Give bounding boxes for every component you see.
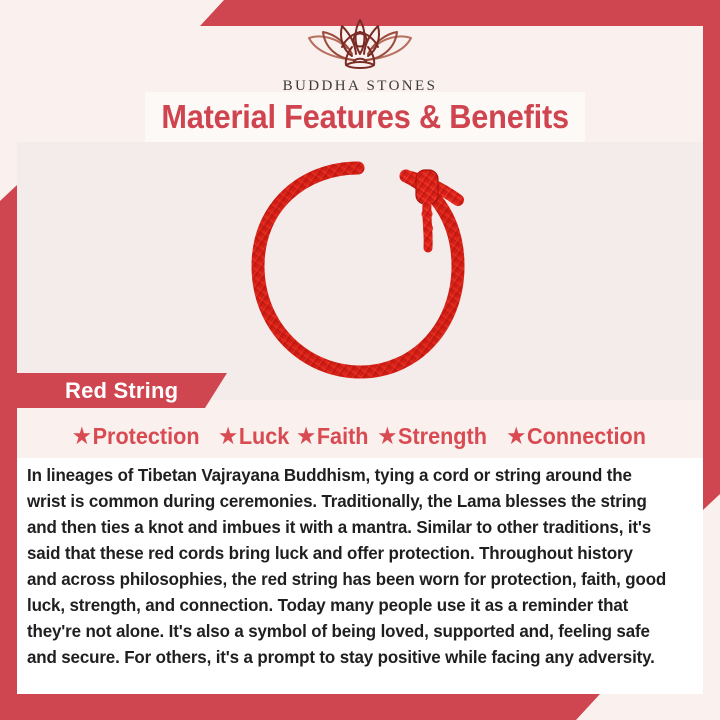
decorative-band-bottom (0, 694, 600, 720)
decorative-band-left (0, 185, 17, 705)
star-icon: ★ (73, 426, 91, 447)
product-photo-panel (17, 142, 703, 400)
star-icon: ★ (298, 426, 316, 447)
product-name-ribbon: Red String (17, 373, 227, 408)
star-icon: ★ (219, 426, 237, 447)
keyword-label: Protection (93, 423, 200, 450)
keyword-label: Luck (239, 423, 289, 450)
product-name: Red String (17, 378, 178, 404)
page-title-strip: Material Features & Benefits (145, 92, 585, 142)
keyword-strength: ★ Strength (379, 423, 487, 450)
bracelet-knot (416, 170, 438, 204)
page-title: Material Features & Benefits (161, 98, 569, 136)
keyword-connection: ★ Connection (508, 423, 646, 450)
red-string-bracelet-image (230, 156, 490, 386)
product-infographic: BUDDHA STONES Material Features & Benefi… (0, 0, 720, 720)
keyword-faith: ★ Faith (298, 423, 369, 450)
description-text: In lineages of Tibetan Vajrayana Buddhis… (27, 462, 667, 670)
keyword-list: ★ Protection ★ Luck ★ Faith ★ Strength ★… (17, 415, 703, 457)
lotus-meditation-icon (295, 14, 425, 76)
star-icon: ★ (379, 426, 397, 447)
keyword-label: Faith (317, 423, 369, 450)
keyword-protection: ★ Protection (73, 423, 199, 450)
keyword-label: Strength (398, 423, 487, 450)
keyword-label: Connection (527, 423, 646, 450)
keyword-luck: ★ Luck (219, 423, 289, 450)
star-icon: ★ (508, 426, 526, 447)
brand-logo: BUDDHA STONES (0, 14, 720, 95)
description-panel: In lineages of Tibetan Vajrayana Buddhis… (17, 458, 703, 694)
